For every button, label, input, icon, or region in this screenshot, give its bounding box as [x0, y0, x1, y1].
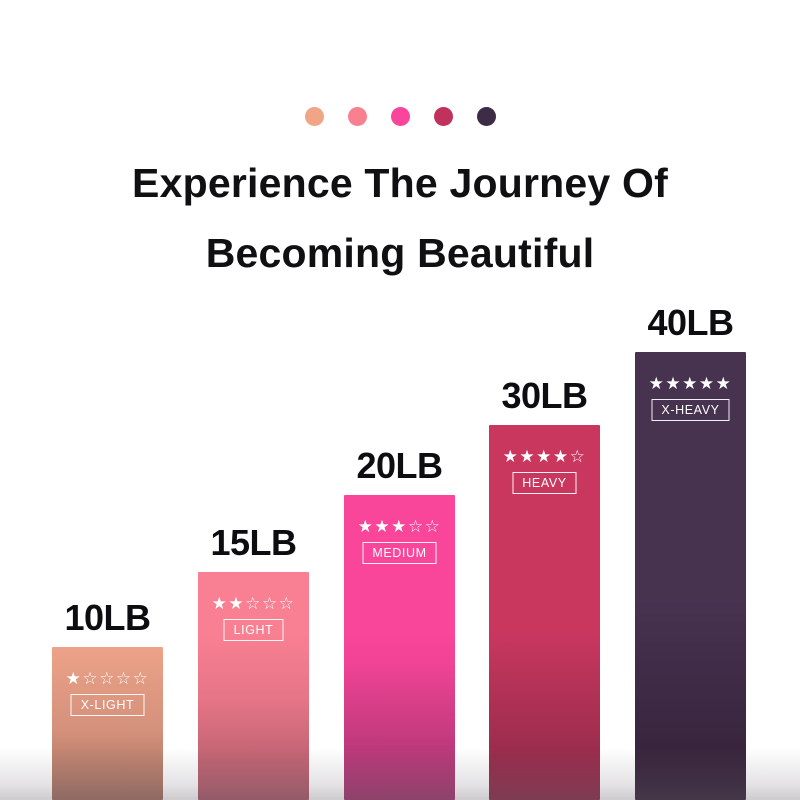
bar-light-star-rating: ★★☆☆☆ [198, 594, 309, 614]
bar-medium-shadow [344, 635, 455, 800]
bar-medium-star-rating: ★★★☆☆ [344, 517, 455, 537]
bar-medium[interactable]: ★★★☆☆MEDIUM [344, 495, 455, 800]
bar-heavy-tier-label: HEAVY [512, 472, 576, 494]
bar-light-badge: ★★☆☆☆LIGHT [198, 594, 309, 641]
bar-light-group: ★★☆☆☆LIGHT15LB [198, 572, 309, 800]
bar-x-light[interactable]: ★☆☆☆☆X-LIGHT [52, 647, 163, 800]
bar-light-shadow [198, 635, 309, 800]
bar-x-light-badge: ★☆☆☆☆X-LIGHT [52, 669, 163, 716]
bar-x-heavy[interactable]: ★★★★★X-HEAVY [635, 352, 746, 800]
bar-x-light-star-rating: ★☆☆☆☆ [52, 669, 163, 689]
product-infographic: Experience The Journey Of Becoming Beaut… [0, 0, 800, 800]
bar-x-light-weight-label: 10LB [64, 597, 150, 639]
bar-medium-group: ★★★☆☆MEDIUM20LB [344, 495, 455, 800]
bar-light-weight-label: 15LB [210, 522, 296, 564]
bar-x-heavy-star-rating: ★★★★★ [635, 374, 746, 394]
bar-light-tier-label: LIGHT [224, 619, 284, 641]
bar-x-heavy-group: ★★★★★X-HEAVY40LB [635, 352, 746, 800]
bar-heavy-badge: ★★★★☆HEAVY [489, 447, 600, 494]
bar-x-heavy-badge: ★★★★★X-HEAVY [635, 374, 746, 421]
resistance-band-bar-chart: ★☆☆☆☆X-LIGHT10LB★★☆☆☆LIGHT15LB★★★☆☆MEDIU… [0, 0, 800, 800]
bar-medium-tier-label: MEDIUM [362, 542, 436, 564]
bar-x-heavy-shadow [635, 635, 746, 800]
bar-heavy-star-rating: ★★★★☆ [489, 447, 600, 467]
bar-heavy-weight-label: 30LB [501, 375, 587, 417]
bar-light[interactable]: ★★☆☆☆LIGHT [198, 572, 309, 800]
bar-x-heavy-weight-label: 40LB [647, 302, 733, 344]
bar-medium-badge: ★★★☆☆MEDIUM [344, 517, 455, 564]
bar-x-heavy-tier-label: X-HEAVY [651, 399, 729, 421]
bar-heavy[interactable]: ★★★★☆HEAVY [489, 425, 600, 800]
bar-heavy-shadow [489, 635, 600, 800]
bar-x-light-tier-label: X-LIGHT [71, 694, 145, 716]
bar-medium-weight-label: 20LB [356, 445, 442, 487]
bar-x-light-group: ★☆☆☆☆X-LIGHT10LB [52, 647, 163, 800]
bar-heavy-group: ★★★★☆HEAVY30LB [489, 425, 600, 800]
